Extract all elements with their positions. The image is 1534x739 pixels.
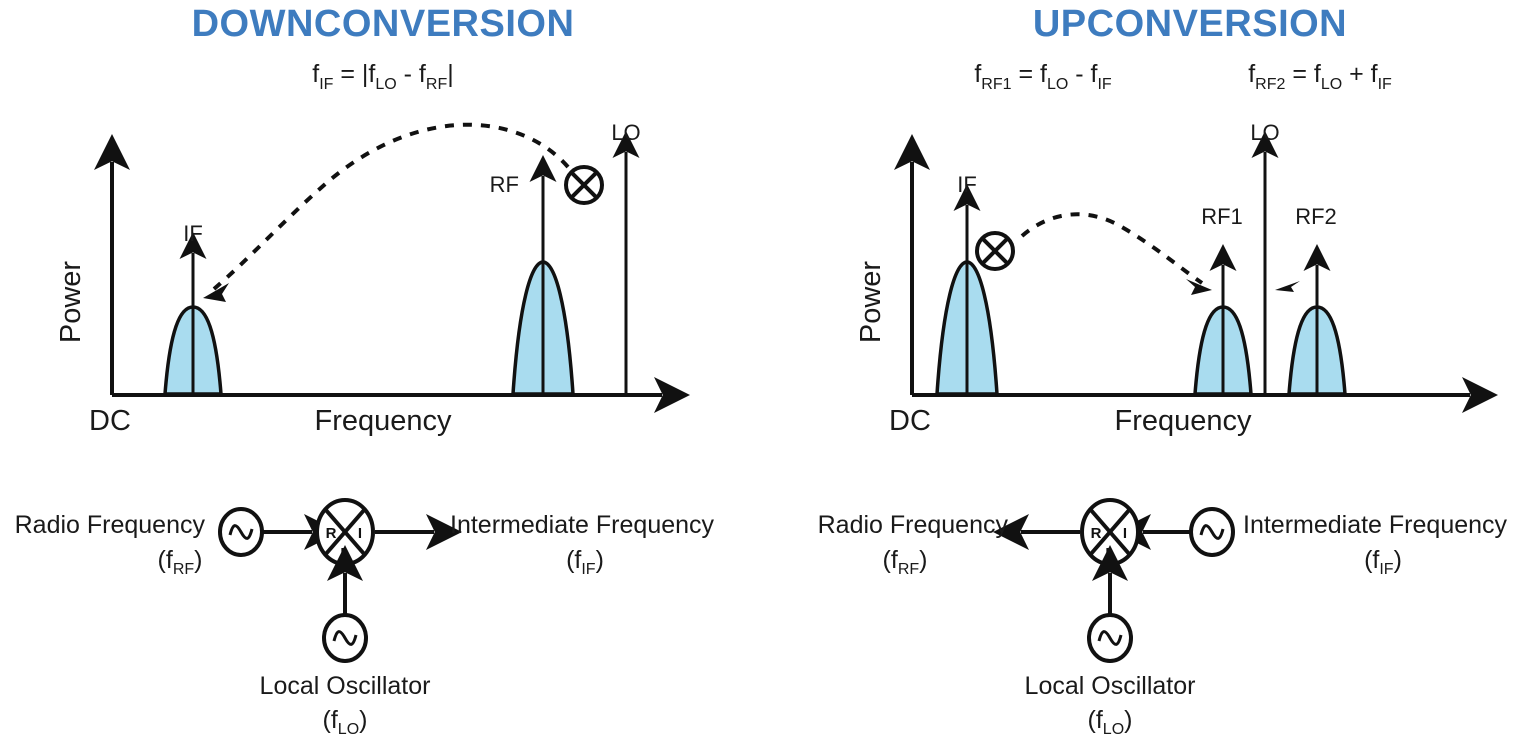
diagram-stage: DOWNCONVERSION fIF = |fLO - fRF| Power F… [0,0,1534,739]
circuit-label-lo: Local Oscillator [260,672,431,700]
mixer-port-r: R [1091,525,1102,542]
mixer-port-i: I [358,525,362,542]
oscillator-lo [1089,615,1131,661]
mixer-port-l: L [340,545,349,562]
dc-origin-label: DC [889,405,931,437]
mixer-port-i: I [1123,525,1127,542]
tone-label-lo: LO [1250,120,1279,145]
mixer-port-l: L [1105,545,1114,562]
dc-origin-label: DC [89,405,131,437]
circuit-label-if: Intermediate Frequency [1243,511,1508,539]
panel-title-upconversion: UPCONVERSION [1033,3,1347,45]
oscillator-lo [324,615,366,661]
mixer-conversion-diagram: DOWNCONVERSION fIF = |fLO - fRF| Power F… [0,0,1534,739]
mixer-port-r: R [326,525,337,542]
x-axis-label: Frequency [314,405,452,437]
mixer-symbol-downconversion: R I L [317,500,373,564]
circuit-label-if: Intermediate Frequency [450,511,715,539]
y-axis-label: Power [855,261,887,344]
oscillator-rf [220,509,262,555]
oscillator-if [1191,509,1233,555]
peak-label-if: IF [183,221,203,246]
circuit-label-rf: Radio Frequency [818,511,1009,539]
y-axis-label: Power [55,261,87,344]
circuit-label-lo: Local Oscillator [1025,672,1196,700]
tone-label-lo: LO [611,120,640,145]
panel-title-downconversion: DOWNCONVERSION [192,3,575,45]
peak-label-rf2: RF2 [1295,204,1337,229]
peak-label-rf1: RF1 [1201,204,1243,229]
peak-label-if: IF [957,172,977,197]
circuit-label-rf: Radio Frequency [15,511,206,539]
mixer-cross-icon [566,167,602,203]
mixer-cross-icon [977,233,1013,269]
mixer-symbol-upconversion: R I L [1082,500,1138,564]
x-axis-label: Frequency [1114,405,1252,437]
peak-label-rf: RF [490,172,519,197]
